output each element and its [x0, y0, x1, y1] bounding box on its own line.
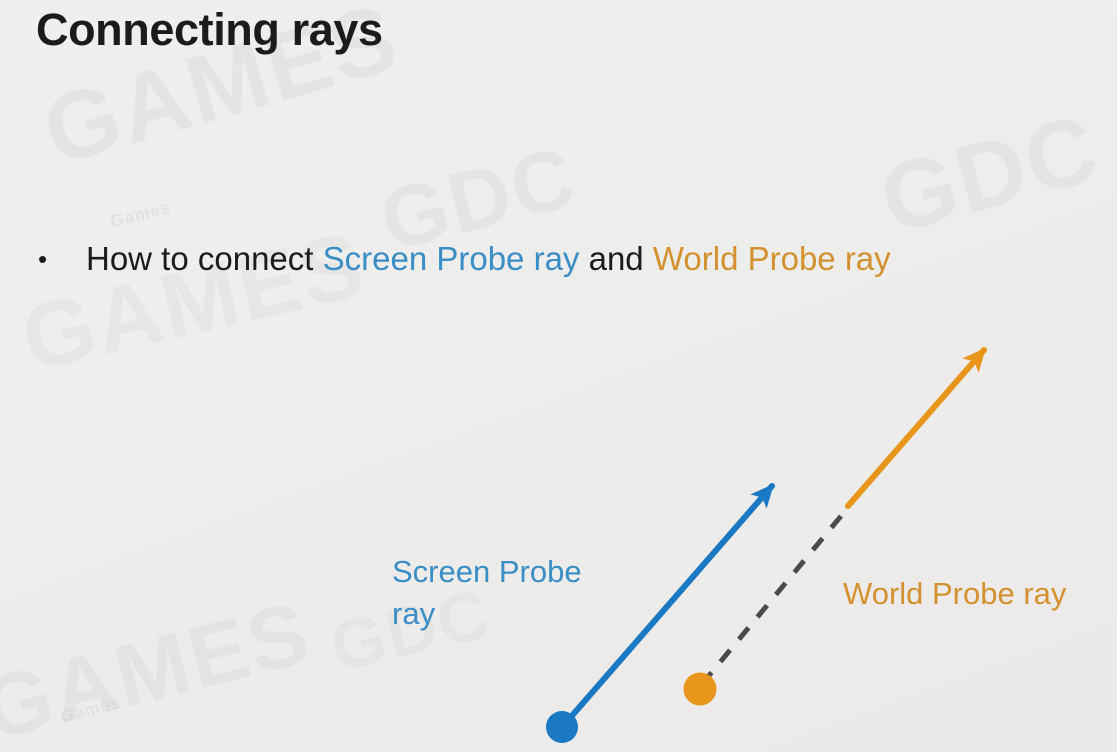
screen-probe-ray-label: Screen Probe ray — [392, 551, 632, 635]
watermark-text: GAMES — [0, 581, 320, 752]
bullet-segment-plain: How to connect — [86, 240, 323, 277]
bullet-segment-and: and — [579, 240, 652, 277]
world-probe-origin-dot — [684, 673, 717, 706]
watermark-small-text: Games — [108, 198, 173, 232]
ray-diagram — [0, 0, 1117, 752]
bullet-item: • How to connect Screen Probe ray and Wo… — [34, 235, 891, 283]
bullet-segment-world-probe: World Probe ray — [653, 240, 891, 277]
watermark-layer: GAMES GDC GAMES GDC GAMES GDC Games Game… — [0, 0, 1117, 752]
watermark-small-text: Games — [58, 693, 123, 727]
screen-probe-origin-dot — [546, 711, 578, 743]
bullet-marker-icon: • — [34, 235, 86, 283]
watermark-text: GDC — [870, 93, 1110, 256]
connector-dashed-line — [702, 510, 846, 684]
world-probe-ray-line — [848, 350, 984, 506]
world-probe-ray-label: World Probe ray — [843, 573, 1066, 615]
slide-root: GAMES GDC GAMES GDC GAMES GDC Games Game… — [0, 0, 1117, 752]
bullet-segment-screen-probe: Screen Probe ray — [323, 240, 580, 277]
page-title: Connecting rays — [36, 4, 383, 56]
bullet-text: How to connect Screen Probe ray and Worl… — [86, 235, 891, 283]
